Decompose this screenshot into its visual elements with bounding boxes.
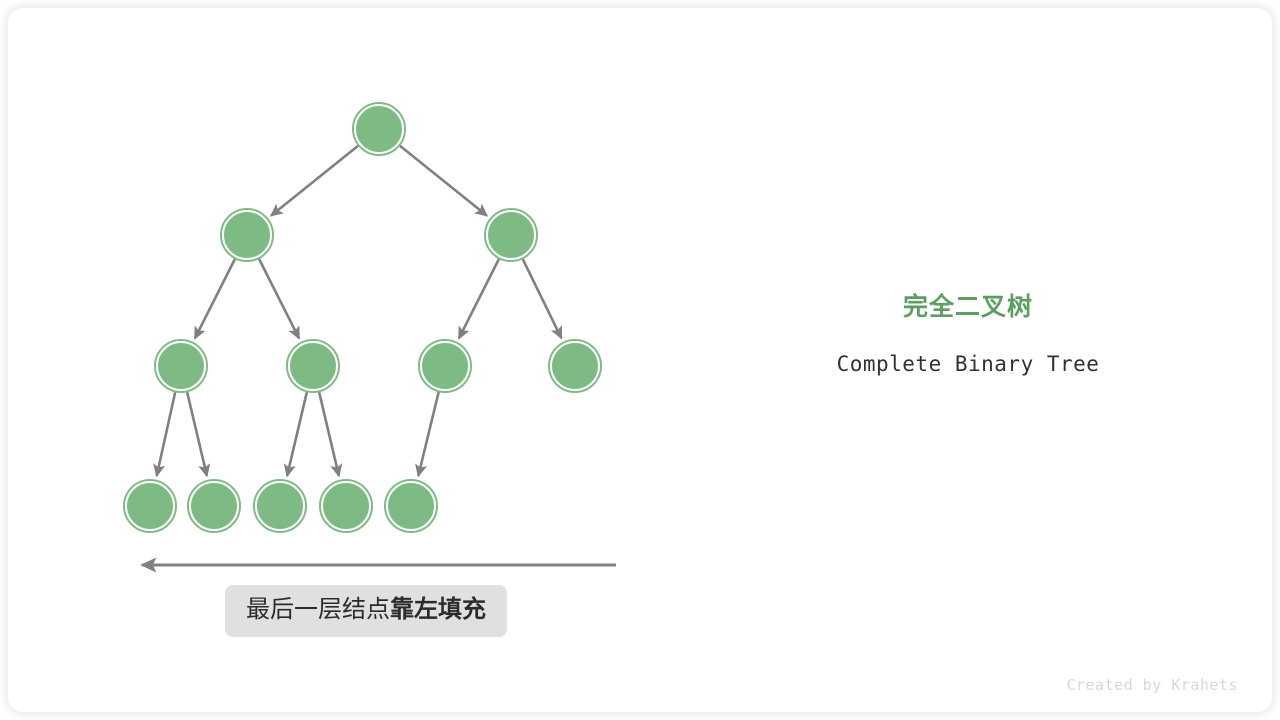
tree-node-circle xyxy=(421,342,469,390)
tree-node-circle xyxy=(157,342,205,390)
tree-edge xyxy=(259,259,299,338)
tree-edges xyxy=(157,146,562,476)
tree-edge xyxy=(418,392,438,476)
tree-node-circle xyxy=(289,342,337,390)
tree-node xyxy=(485,209,537,261)
tree-node xyxy=(320,480,372,532)
tree-node-circle xyxy=(387,482,435,530)
figure-canvas: 完全二叉树 Complete Binary Tree 最后一层结点靠左填充 Cr… xyxy=(0,0,1280,720)
tree-node-circle xyxy=(551,342,599,390)
watermark-credit: Created by Krahets xyxy=(1066,676,1238,694)
caption-badge: 最后一层结点靠左填充 xyxy=(225,585,507,637)
tree-edge xyxy=(400,146,487,216)
tree-node-circle xyxy=(190,482,238,530)
tree-node-circle xyxy=(322,482,370,530)
tree-node xyxy=(353,103,405,155)
tree-edge xyxy=(319,392,339,476)
tree-node xyxy=(221,209,273,261)
tree-node xyxy=(287,340,339,392)
caption-bold-text: 靠左填充 xyxy=(390,596,486,623)
tree-node xyxy=(254,480,306,532)
tree-nodes xyxy=(124,103,601,532)
tree-node-circle xyxy=(355,105,403,153)
tree-node xyxy=(188,480,240,532)
tree-edge xyxy=(523,259,562,338)
tree-node xyxy=(385,480,437,532)
tree-node-circle xyxy=(256,482,304,530)
tree-node xyxy=(155,340,207,392)
page-subtitle: Complete Binary Tree xyxy=(760,352,1176,376)
tree-node xyxy=(419,340,471,392)
tree-node-circle xyxy=(223,211,271,259)
page-title: 完全二叉树 xyxy=(760,292,1176,322)
tree-edge xyxy=(195,259,235,338)
tree-node xyxy=(549,340,601,392)
tree-edge xyxy=(157,392,175,475)
tree-node xyxy=(124,480,176,532)
tree-edge xyxy=(187,392,207,476)
diagram-labels: 完全二叉树 Complete Binary Tree xyxy=(760,292,1176,376)
tree-edge xyxy=(271,146,358,216)
tree-edge xyxy=(459,259,499,338)
tree-edge xyxy=(287,392,307,476)
tree-node-circle xyxy=(487,211,535,259)
caption-plain-text: 最后一层结点 xyxy=(246,596,390,623)
tree-node-circle xyxy=(126,482,174,530)
